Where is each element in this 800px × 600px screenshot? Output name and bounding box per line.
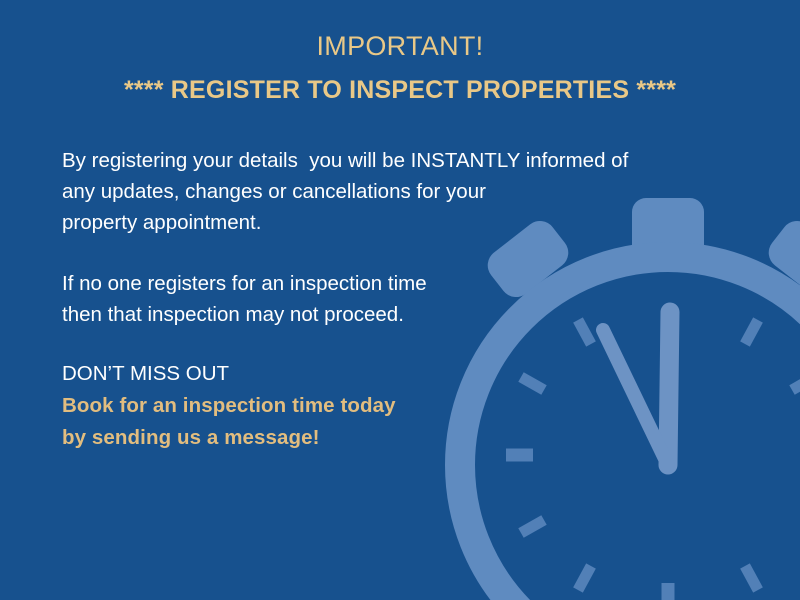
title-important: IMPORTANT!: [0, 28, 800, 64]
paragraph-spacer: [62, 238, 722, 268]
promotional-slide: IMPORTANT! **** REGISTER TO INSPECT PROP…: [0, 0, 800, 600]
cta-line: Book for an inspection time today: [62, 390, 722, 422]
title-register: **** REGISTER TO INSPECT PROPERTIES ****: [0, 70, 800, 110]
cta-headline: DON’T MISS OUT: [62, 358, 722, 390]
paragraph-spacer: [62, 330, 722, 358]
body-line: any updates, changes or cancellations fo…: [62, 176, 722, 207]
paragraph-call-to-action: DON’T MISS OUT Book for an inspection ti…: [62, 358, 722, 454]
body-copy: By registering your details you will be …: [62, 145, 722, 454]
paragraph-warning: If no one registers for an inspection ti…: [62, 268, 722, 330]
body-line: If no one registers for an inspection ti…: [62, 268, 722, 299]
body-line: By registering your details you will be …: [62, 145, 722, 176]
body-line: property appointment.: [62, 207, 722, 238]
clock-right-lug: [762, 215, 800, 304]
cta-line: by sending us a message!: [62, 422, 722, 454]
heading-block: IMPORTANT! **** REGISTER TO INSPECT PROP…: [0, 28, 800, 110]
paragraph-intro: By registering your details you will be …: [62, 145, 722, 238]
body-line: then that inspection may not proceed.: [62, 299, 722, 330]
